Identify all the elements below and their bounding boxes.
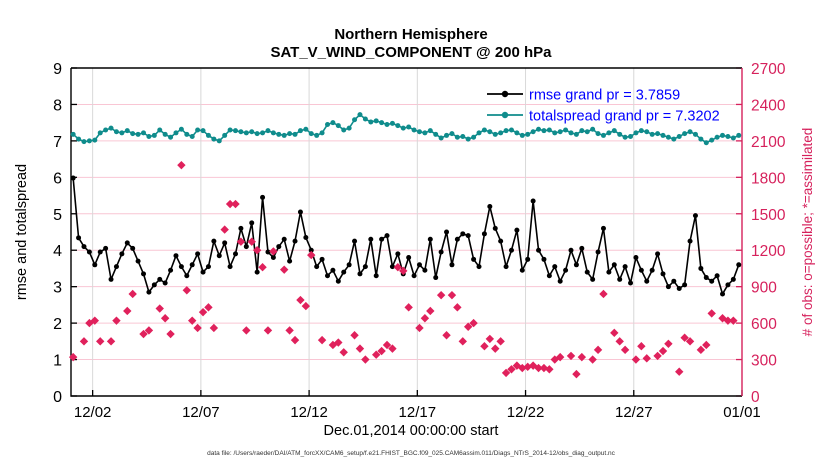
data-point [163,281,168,286]
tick-label-x: 12/12 [290,404,328,421]
data-point [547,127,552,132]
data-point [541,128,546,133]
data-point [406,255,411,260]
data-point [698,266,703,271]
data-point [428,237,433,242]
data-point [509,248,514,253]
data-point [146,134,151,139]
data-point [125,240,130,245]
data-point [736,262,741,267]
data-point [493,226,498,231]
data-point [276,132,281,137]
data-point [92,262,97,267]
data-point [590,277,595,282]
data-point [487,204,492,209]
data-point [98,250,103,255]
data-point [244,130,249,135]
tick-label-left: 2 [53,316,62,333]
data-point [190,134,195,139]
data-point [552,130,557,135]
data-point [76,137,81,142]
tick-label-x: 01/01 [723,404,761,421]
data-point [590,127,595,132]
data-point [682,131,687,136]
data-point [347,126,352,131]
data-point [563,127,568,132]
data-point [504,128,509,133]
data-point [525,132,530,137]
data-point [504,264,509,269]
data-point [190,262,195,267]
legend-item-label: rmse grand pr = 3.7859 [529,88,680,104]
data-point [720,291,725,296]
data-point [531,199,536,204]
data-point [195,127,200,132]
data-point [455,135,460,140]
data-point [433,275,438,280]
tick-label-left: 9 [53,61,62,78]
data-point [314,133,319,138]
data-point [579,128,584,133]
data-point [330,268,335,273]
data-point [677,286,682,291]
data-point [238,129,243,134]
data-point [736,133,741,138]
data-point [671,279,676,284]
data-point [76,235,81,240]
data-point [661,271,666,276]
data-point [401,126,406,131]
tick-label-left: 5 [53,207,62,224]
data-point [547,273,552,278]
data-point [633,255,638,260]
data-point [320,257,325,262]
tick-label-x: 12/17 [399,404,437,421]
data-point [330,120,335,125]
data-point [536,127,541,132]
data-point [563,268,568,273]
data-point [233,251,238,256]
data-point [374,118,379,123]
data-point [336,279,341,284]
data-point [103,246,108,251]
data-point [688,129,693,134]
data-point [417,262,422,267]
data-point [444,230,449,235]
data-point [688,239,693,244]
data-point [81,139,86,144]
data-point [715,273,720,278]
data-point [222,133,227,138]
tick-label-left: 4 [53,243,62,260]
data-point [390,121,395,126]
data-point [184,273,189,278]
data-point [698,137,703,142]
data-point [238,226,243,231]
data-point [585,270,590,275]
data-point [417,129,422,134]
data-point [206,264,211,269]
data-point [109,277,114,282]
data-point [114,129,119,134]
tick-label-left: 1 [53,353,62,370]
data-point [666,284,671,289]
data-point [460,231,465,236]
data-point [412,127,417,132]
data-point [163,132,168,137]
data-point [168,268,173,273]
data-point [628,281,633,286]
data-point [368,237,373,242]
tick-label-right: 2700 [751,61,786,78]
data-point [509,127,514,132]
data-point [390,264,395,269]
data-point [98,130,103,135]
data-point [136,259,141,264]
data-point [265,250,270,255]
data-point [217,138,222,143]
data-point [379,120,384,125]
data-point [709,138,714,143]
data-point [579,246,584,251]
data-point [385,122,390,127]
data-point [325,122,330,127]
data-point [558,129,563,134]
data-point [282,237,287,242]
data-point [493,132,498,137]
data-point [217,253,222,258]
data-point [558,279,563,284]
data-point [477,130,482,135]
tick-label-x: 12/27 [615,404,653,421]
data-point [303,235,308,240]
data-point [233,128,238,133]
data-point [617,132,622,137]
tick-label-right: 1200 [751,243,786,260]
tick-label-x: 12/22 [507,404,545,421]
data-point [357,112,362,117]
data-point [395,123,400,128]
data-point [644,129,649,134]
data-point [141,271,146,276]
legend-swatch-marker [502,91,508,97]
data-point [260,195,265,200]
data-point [633,130,638,135]
data-point [725,282,730,287]
data-point [152,282,157,287]
data-point [260,130,265,135]
data-point [146,290,151,295]
data-point [282,133,287,138]
data-point [709,279,714,284]
data-point [704,275,709,280]
data-point [406,125,411,130]
data-point [693,132,698,137]
tick-label-left: 7 [53,134,62,151]
data-point [341,270,346,275]
data-point [119,251,124,256]
data-point [428,128,433,133]
tick-label-right: 2100 [751,134,786,151]
data-point [444,133,449,138]
data-point [109,126,114,131]
data-point [130,246,135,251]
observation-diagnostics-chart: Northern Hemisphere SAT_V_WIND_COMPONENT… [0,0,830,470]
data-point [265,128,270,133]
data-point [466,137,471,142]
data-point [596,250,601,255]
data-point [206,133,211,138]
data-point [195,251,200,256]
data-point [455,237,460,242]
data-point [168,135,173,140]
data-point [682,282,687,287]
data-point [422,268,427,273]
data-point [514,130,519,135]
data-point [81,244,86,249]
data-point [715,135,720,140]
tick-label-right: 1800 [751,170,786,187]
data-point [666,135,671,140]
data-point [320,130,325,135]
data-point [536,248,541,253]
data-point [222,240,227,245]
data-point [357,271,362,276]
data-point [249,220,254,225]
data-point [655,131,660,136]
legend-item-label: totalspread grand pr = 7.3202 [529,109,720,125]
data-point [704,140,709,145]
legend-swatch-marker [502,112,508,118]
data-point [363,117,368,122]
data-point [173,130,178,135]
y-axis-label-right: # of obs: o=possible; *=assimilated [800,128,815,337]
tick-label-right: 600 [751,316,777,333]
data-point [520,268,525,273]
data-point [725,134,730,139]
data-point [363,264,368,269]
data-point [449,131,454,136]
data-point [514,228,519,233]
data-point [157,127,162,132]
data-point [228,264,233,269]
data-point [352,117,357,122]
data-point [601,226,606,231]
data-point [119,130,124,135]
data-point [336,123,341,128]
x-axis-label: Dec.01,2014 00:00:00 start [324,423,499,439]
data-point [574,262,579,267]
data-point [596,131,601,136]
data-point [639,268,644,273]
data-point [541,257,546,262]
data-point [650,268,655,273]
data-point [433,132,438,137]
tick-label-right: 300 [751,353,777,370]
data-point [141,130,146,135]
data-point [569,130,574,135]
data-point [71,132,76,137]
tick-label-right: 2400 [751,97,786,114]
data-point [487,129,492,134]
data-point [201,128,206,133]
data-point [114,264,119,269]
data-point [314,264,319,269]
data-point [520,133,525,138]
data-point [87,250,92,255]
chart-title-line1: Northern Hemisphere [334,26,487,43]
data-point [255,270,260,275]
data-point [498,239,503,244]
data-point [325,273,330,278]
data-point [298,128,303,133]
data-point [347,262,352,267]
data-point [374,273,379,278]
data-point [244,244,249,249]
data-point [173,253,178,258]
data-point [303,127,308,132]
data-point [287,131,292,136]
data-point [731,277,736,282]
data-point [152,133,157,138]
data-point [498,130,503,135]
data-point [671,137,676,142]
data-point [130,131,135,136]
tick-label-x: 12/02 [74,404,112,421]
data-point [201,270,206,275]
data-point [103,127,108,132]
data-point [87,138,92,143]
data-point [531,129,536,134]
data-point [211,137,216,142]
data-point [477,264,482,269]
data-point [422,130,427,135]
data-point [379,237,384,242]
tick-label-right: 1500 [751,207,786,224]
data-point [276,244,281,249]
data-point [623,135,628,140]
data-point [293,132,298,137]
data-point [449,262,454,267]
data-point [525,257,530,262]
data-point [249,129,254,134]
data-point [184,132,189,137]
data-point [228,127,233,132]
data-point [552,264,557,269]
data-point [661,133,666,138]
figure-background [0,0,830,470]
data-point [606,130,611,135]
data-point [293,239,298,244]
chart-title-line2: SAT_V_WIND_COMPONENT @ 200 hPa [270,44,552,61]
data-point [677,134,682,139]
data-point [287,259,292,264]
data-point [612,128,617,133]
data-point [298,209,303,214]
data-point [71,176,76,181]
data-point [623,264,628,269]
tick-label-left: 6 [53,170,62,187]
data-point [255,131,260,136]
data-point [650,132,655,137]
data-point [368,119,373,124]
data-point [639,128,644,133]
data-point [460,134,465,139]
data-point [693,213,698,218]
data-point [125,128,130,133]
data-point [606,270,611,275]
data-point [471,257,476,262]
data-point [92,138,97,143]
data-point [655,251,660,256]
data-point [644,279,649,284]
y-axis-label-left: rmse and totalspread [14,164,30,300]
data-point [211,239,216,244]
data-point [601,133,606,138]
data-point [395,251,400,256]
tick-label-left: 0 [53,389,62,406]
tick-label-left: 8 [53,97,62,114]
tick-label-left: 3 [53,280,62,297]
data-point [179,127,184,132]
data-point [482,127,487,132]
data-file-footer: data file: /Users/raeder/DAI/ATM_forcXX/… [207,450,616,457]
data-point [439,250,444,255]
data-point [271,255,276,260]
data-point [352,239,357,244]
data-point [628,134,633,139]
data-point [179,264,184,269]
tick-label-right: 900 [751,280,777,297]
data-point [612,262,617,267]
data-point [271,130,276,135]
data-point [482,231,487,236]
data-point [569,248,574,253]
data-point [720,133,725,138]
data-point [385,233,390,238]
tick-label-x: 12/07 [182,404,220,421]
data-point [731,135,736,140]
data-point [471,135,476,140]
data-point [585,129,590,134]
data-point [439,135,444,140]
data-point [617,277,622,282]
data-point [309,131,314,136]
data-point [157,277,162,282]
data-point [412,273,417,278]
data-point [136,132,141,137]
data-point [574,132,579,137]
data-point [466,233,471,238]
data-point [341,127,346,132]
